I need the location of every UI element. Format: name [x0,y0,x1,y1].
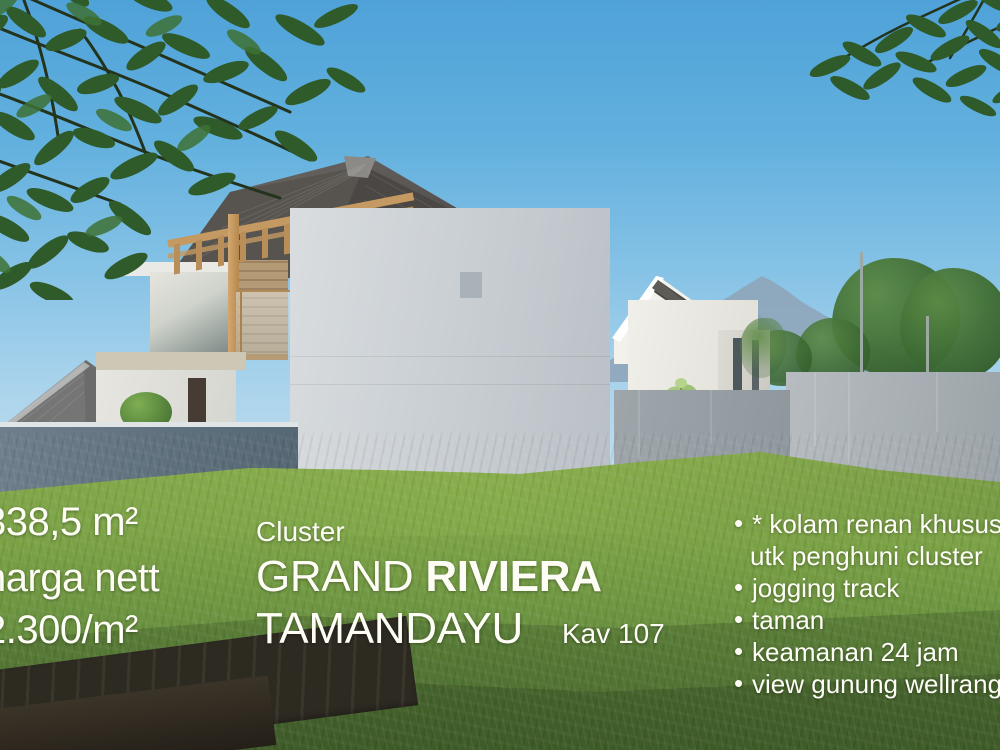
listing-photo: 338,5 m² harga nett 2.300/m² Cluster GRA… [0,0,1000,750]
feature-label: utk penghuni cluster [750,540,983,572]
cluster-name-line1: GRAND RIVIERA [256,552,602,602]
cluster-name-grand: GRAND [256,552,425,601]
cluster-eyebrow: Cluster [256,516,345,548]
bullet-icon: • [734,603,743,635]
feature-label: jogging track [752,572,899,604]
feature-label: view gunung wellrang [752,668,1000,700]
land-area-label: 338,5 m² [0,500,138,545]
cluster-name-line2: TAMANDAYU [256,604,523,654]
cluster-name-riviera: RIVIERA [425,552,601,601]
bullet-icon: • [734,635,743,667]
feature-label: keamanan 24 jam [752,636,959,668]
bullet-icon: • [734,507,743,539]
foreground-tree-right [770,0,1000,150]
foreground-tree [0,0,380,290]
bullet-icon: • [734,571,743,603]
price-caption: harga nett [0,556,159,601]
price-value: 2.300/m² [0,608,138,653]
feature-label: taman [752,604,824,636]
kavling-label: Kav 107 [562,618,665,650]
feature-label: * kolam renan khusus [752,508,1000,540]
bullet-icon: • [734,667,743,699]
